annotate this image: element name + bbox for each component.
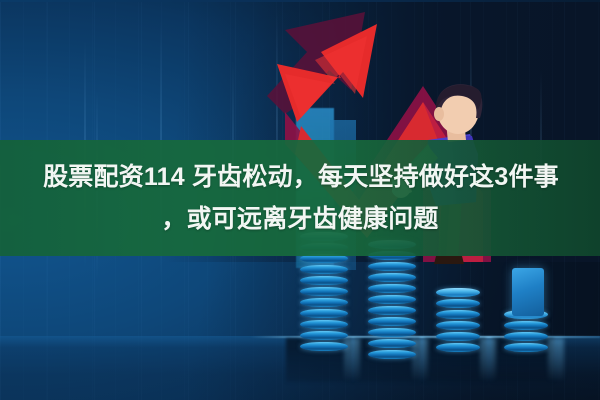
coin: [504, 332, 548, 341]
caption-line-1: 股票配资114 牙齿松动，每天坚持做好这3件事: [41, 157, 559, 197]
coin: [368, 284, 416, 293]
coin: [436, 332, 480, 341]
stack-glow: [480, 338, 496, 380]
coin: [368, 339, 416, 348]
coin: [368, 306, 416, 315]
coin: [300, 309, 348, 318]
coin: [300, 331, 348, 340]
coin: [436, 343, 480, 352]
coin: [300, 287, 348, 296]
coin: [300, 265, 348, 274]
coin: [368, 295, 416, 304]
coin: [436, 321, 480, 330]
coin: [436, 288, 480, 297]
coin: [436, 299, 480, 308]
coin: [368, 328, 416, 337]
coin: [300, 298, 348, 307]
coin: [300, 320, 348, 329]
coin: [300, 342, 348, 351]
banknote-card: [512, 268, 544, 316]
coin-stack-3: [436, 288, 480, 354]
coin-stack-2: [368, 240, 416, 354]
coin: [300, 276, 348, 285]
caption-block: 股票配资114 牙齿松动，每天坚持做好这3件事 ，或可远离牙齿健康问题: [0, 140, 600, 256]
coin-stack-4: [504, 310, 548, 354]
caption-line-2: ，或可远离牙齿健康问题: [161, 199, 438, 239]
coin: [368, 262, 416, 271]
coin: [368, 317, 416, 326]
coin: [504, 321, 548, 330]
stack-glow: [548, 338, 564, 380]
coin: [368, 350, 416, 359]
coin: [504, 343, 548, 352]
coin: [368, 273, 416, 282]
illustration-banner: 股票配资114 牙齿松动，每天坚持做好这3件事 ，或可远离牙齿健康问题: [0, 0, 600, 400]
coin: [436, 310, 480, 319]
